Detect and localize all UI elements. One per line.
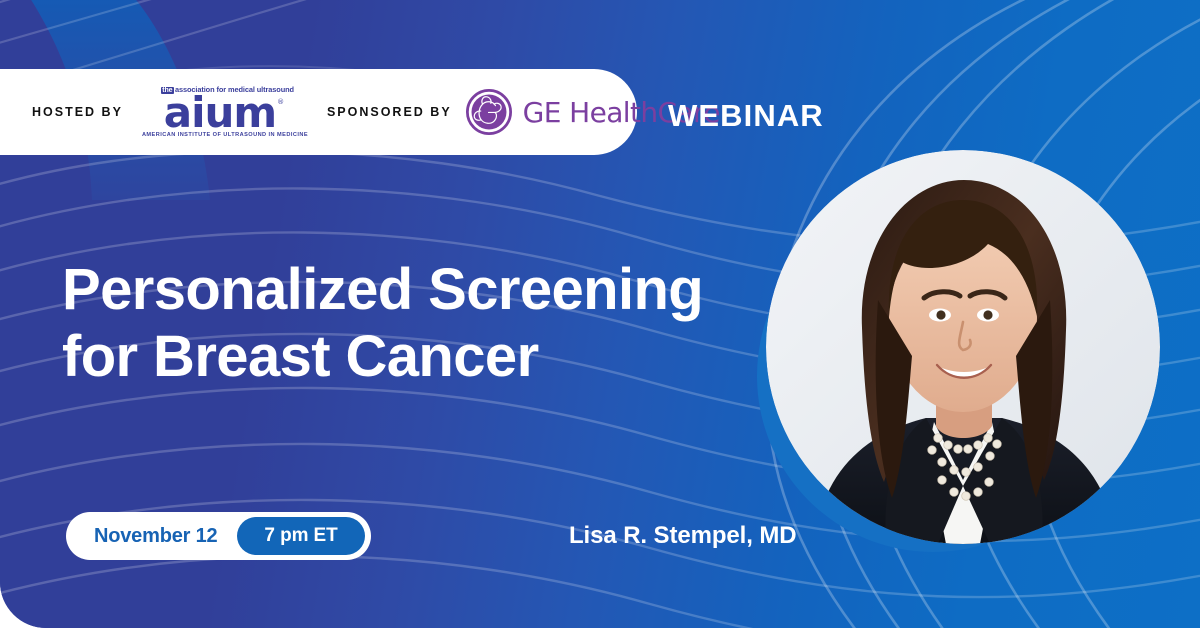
webinar-date: November 12	[66, 525, 237, 548]
webinar-time: 7 pm ET	[237, 517, 364, 555]
aium-wordmark-text: aium	[164, 88, 276, 137]
webinar-banner: HOSTED BY theassociation for medical ult…	[0, 0, 1200, 628]
sponsor-header-bar: HOSTED BY theassociation for medical ult…	[0, 69, 637, 155]
page-title: Personalized Screening for Breast Cancer	[62, 256, 782, 391]
aium-wordmark: aium®	[142, 95, 298, 131]
speaker-name: Lisa R. Stempel, MD	[569, 522, 796, 550]
hosted-by-label: HOSTED BY	[32, 105, 123, 119]
schedule-pill[interactable]: November 12 7 pm ET	[66, 512, 371, 560]
title-line-2: for Breast Cancer	[62, 323, 782, 390]
title-line-1: Personalized Screening	[62, 256, 782, 323]
speaker-portrait	[766, 150, 1160, 544]
webinar-badge: WEBINAR	[668, 98, 824, 134]
sponsored-by-label: SPONSORED BY	[327, 105, 452, 119]
aium-registered-mark: ®	[277, 99, 283, 105]
aium-logo: theassociation for medical ultrasound ai…	[142, 86, 298, 139]
ge-monogram-icon	[466, 89, 512, 135]
